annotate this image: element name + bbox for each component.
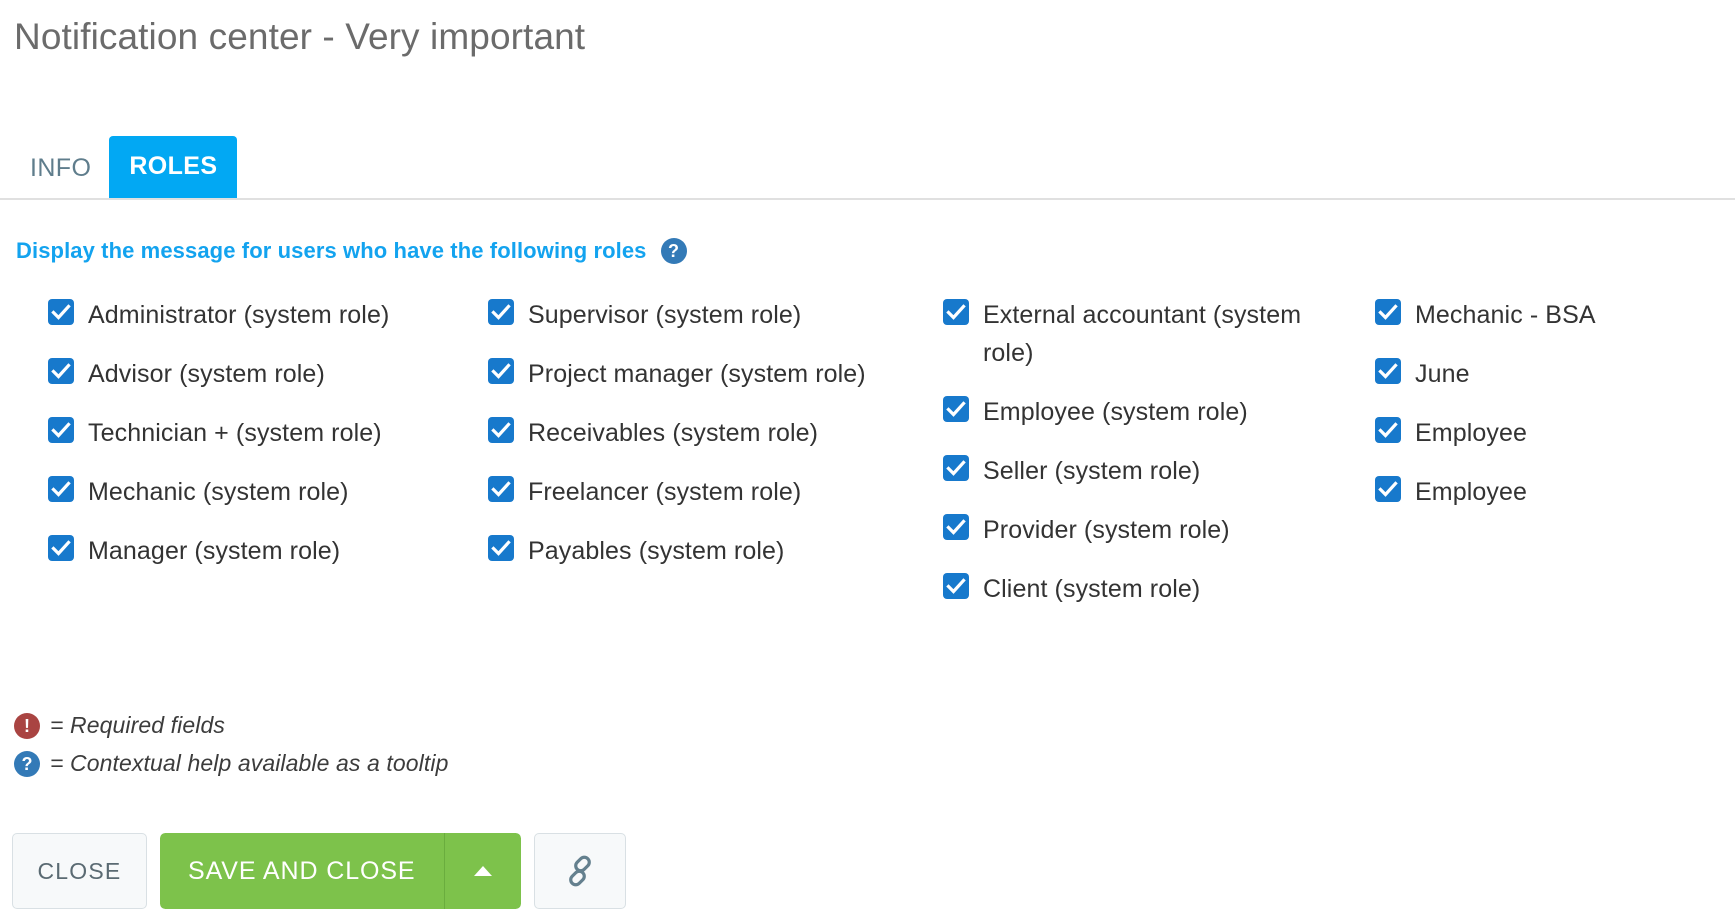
tab-list: INFO ROLES xyxy=(12,124,237,198)
checkbox-checked-icon[interactable] xyxy=(48,535,74,561)
role-label: Provider (system role) xyxy=(983,511,1230,549)
role-checkbox-item[interactable]: Advisor (system role) xyxy=(48,355,480,393)
form-legend: ! = Required fields ? = Contextual help … xyxy=(14,712,448,788)
checkbox-checked-icon[interactable] xyxy=(488,476,514,502)
role-label: Employee (system role) xyxy=(983,393,1248,431)
checkbox-checked-icon[interactable] xyxy=(943,573,969,599)
legend-contextual-help: ? = Contextual help available as a toolt… xyxy=(14,750,448,777)
checkbox-checked-icon[interactable] xyxy=(488,358,514,384)
role-label: Administrator (system role) xyxy=(88,296,389,334)
save-and-close-button[interactable]: SAVE AND CLOSE xyxy=(160,833,444,909)
role-checkbox-item[interactable]: June xyxy=(1375,355,1735,393)
roles-section-heading: Display the message for users who have t… xyxy=(16,238,687,264)
roles-column-1: Administrator (system role) Advisor (sys… xyxy=(0,296,480,591)
chain-link-icon[interactable] xyxy=(534,833,626,909)
role-checkbox-item[interactable]: Manager (system role) xyxy=(48,532,480,570)
role-label: Project manager (system role) xyxy=(528,355,866,393)
checkbox-checked-icon[interactable] xyxy=(1375,476,1401,502)
roles-column-3: External accountant (system role) Employ… xyxy=(935,296,1365,629)
checkbox-checked-icon[interactable] xyxy=(943,396,969,422)
role-label: Technician + (system role) xyxy=(88,414,382,452)
close-button[interactable]: CLOSE xyxy=(12,833,147,909)
page-title: Notification center - Very important xyxy=(14,16,585,58)
checkbox-checked-icon[interactable] xyxy=(48,417,74,443)
role-label: External accountant (system role) xyxy=(983,296,1343,372)
caret-up-icon[interactable] xyxy=(444,833,521,909)
role-label: Client (system role) xyxy=(983,570,1200,608)
legend-required-fields: ! = Required fields xyxy=(14,712,448,739)
role-checkbox-item[interactable]: Project manager (system role) xyxy=(488,355,935,393)
role-checkbox-item[interactable]: Payables (system role) xyxy=(488,532,935,570)
checkbox-checked-icon[interactable] xyxy=(48,476,74,502)
checkbox-checked-icon[interactable] xyxy=(48,299,74,325)
checkbox-checked-icon[interactable] xyxy=(1375,358,1401,384)
role-checkbox-item[interactable]: Administrator (system role) xyxy=(48,296,480,334)
role-label: Mechanic - BSA xyxy=(1415,296,1596,334)
role-label: Employee xyxy=(1415,473,1527,511)
role-label: Employee xyxy=(1415,414,1527,452)
role-checkbox-item[interactable]: Employee xyxy=(1375,414,1735,452)
role-checkbox-item[interactable]: Mechanic - BSA xyxy=(1375,296,1735,334)
role-checkbox-item[interactable]: Employee xyxy=(1375,473,1735,511)
dialog-footer: CLOSE SAVE AND CLOSE xyxy=(12,833,626,909)
role-label: Receivables (system role) xyxy=(528,414,818,452)
role-label: Supervisor (system role) xyxy=(528,296,801,334)
tab-info[interactable]: INFO xyxy=(12,140,109,198)
exclamation-circle-icon: ! xyxy=(14,713,40,739)
role-label: Mechanic (system role) xyxy=(88,473,349,511)
checkbox-checked-icon[interactable] xyxy=(488,417,514,443)
role-checkbox-item[interactable]: Provider (system role) xyxy=(943,511,1365,549)
role-checkbox-item[interactable]: Technician + (system role) xyxy=(48,414,480,452)
role-label: Seller (system role) xyxy=(983,452,1200,490)
checkbox-checked-icon[interactable] xyxy=(48,358,74,384)
role-label: Freelancer (system role) xyxy=(528,473,801,511)
help-circle-icon[interactable]: ? xyxy=(661,238,687,264)
role-checkbox-item[interactable]: Supervisor (system role) xyxy=(488,296,935,334)
role-checkbox-item[interactable]: Seller (system role) xyxy=(943,452,1365,490)
checkbox-checked-icon[interactable] xyxy=(943,455,969,481)
checkbox-checked-icon[interactable] xyxy=(1375,299,1401,325)
save-split-button: SAVE AND CLOSE xyxy=(160,833,521,909)
checkbox-checked-icon[interactable] xyxy=(488,299,514,325)
role-checkbox-item[interactable]: Employee (system role) xyxy=(943,393,1365,431)
role-label: Advisor (system role) xyxy=(88,355,325,393)
role-checkbox-item[interactable]: Mechanic (system role) xyxy=(48,473,480,511)
checkbox-checked-icon[interactable] xyxy=(943,299,969,325)
role-label: Payables (system role) xyxy=(528,532,784,570)
role-checkbox-item[interactable]: Freelancer (system role) xyxy=(488,473,935,511)
legend-help-text: = Contextual help available as a tooltip xyxy=(50,750,448,777)
roles-column-2: Supervisor (system role) Project manager… xyxy=(480,296,935,591)
role-checkbox-item[interactable]: Client (system role) xyxy=(943,570,1365,608)
tab-roles[interactable]: ROLES xyxy=(109,136,237,198)
tab-bar: INFO ROLES xyxy=(0,124,1735,200)
role-checkbox-item[interactable]: Receivables (system role) xyxy=(488,414,935,452)
roles-section-label: Display the message for users who have t… xyxy=(16,238,647,264)
legend-required-text: = Required fields xyxy=(50,712,225,739)
roles-column-4: Mechanic - BSA June Employee Employee xyxy=(1365,296,1735,532)
role-label: June xyxy=(1415,355,1470,393)
checkbox-checked-icon[interactable] xyxy=(488,535,514,561)
role-checkbox-item[interactable]: External accountant (system role) xyxy=(943,296,1365,372)
checkbox-checked-icon[interactable] xyxy=(943,514,969,540)
checkbox-checked-icon[interactable] xyxy=(1375,417,1401,443)
help-circle-icon: ? xyxy=(14,751,40,777)
roles-checkbox-grid: Administrator (system role) Advisor (sys… xyxy=(0,296,1735,629)
role-label: Manager (system role) xyxy=(88,532,340,570)
